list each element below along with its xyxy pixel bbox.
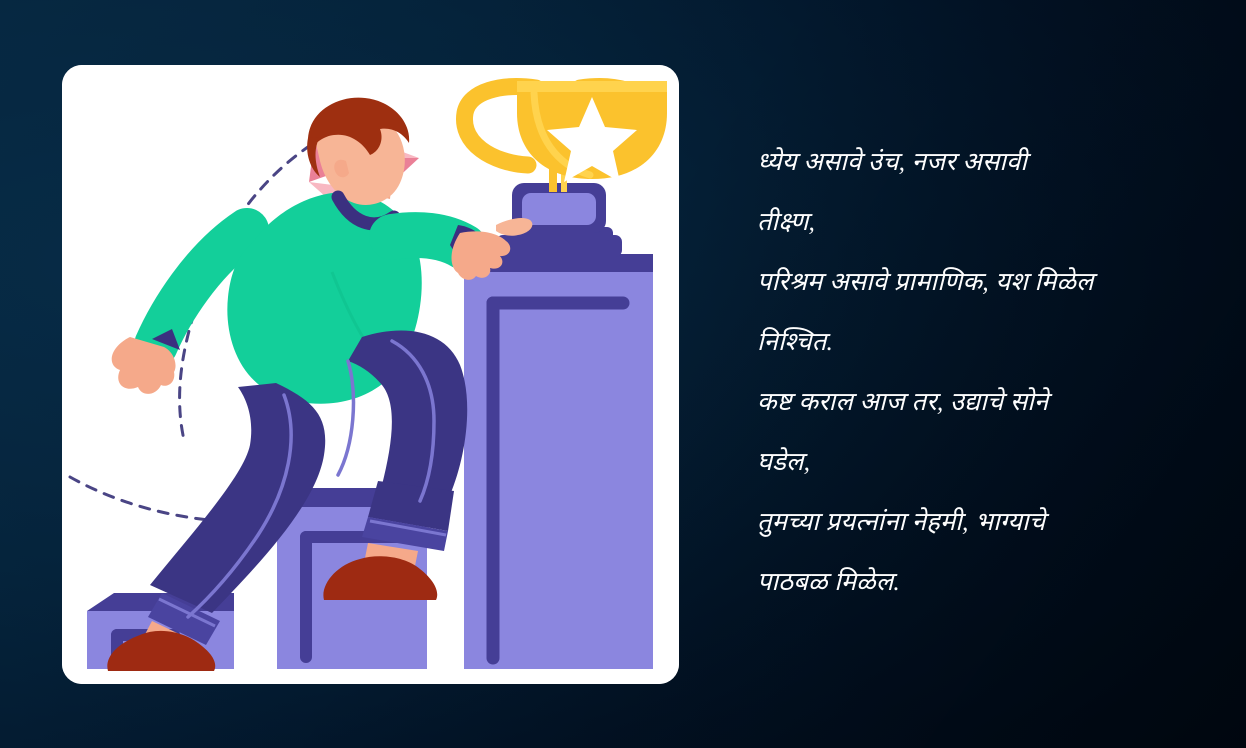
quote-image-canvas: ध्येय असावे उंच, नजर असावी तीक्ष्ण, परिश…	[0, 0, 1246, 748]
quote-line: घडेल,	[757, 432, 1209, 492]
motivation-illustration	[62, 65, 679, 684]
quote-line: ध्येय असावे उंच, नजर असावी	[757, 132, 1209, 192]
quote-line: तुमच्या प्रयत्नांना नेहमी, भाग्याचे	[757, 492, 1209, 552]
illustration-card	[62, 65, 679, 684]
quote-line: कष्ट कराल आज तर, उद्याचे सोने	[757, 372, 1209, 432]
quote-line: तीक्ष्ण,	[757, 192, 1209, 252]
quote-line: पाठबळ मिळेल.	[757, 552, 1209, 612]
quote-text-block: ध्येय असावे उंच, नजर असावी तीक्ष्ण, परिश…	[757, 132, 1209, 612]
quote-line: निश्चित.	[757, 312, 1209, 372]
quote-line: परिश्रम असावे प्रामाणिक, यश मिळेल	[757, 252, 1209, 312]
tall-bar	[464, 254, 653, 669]
